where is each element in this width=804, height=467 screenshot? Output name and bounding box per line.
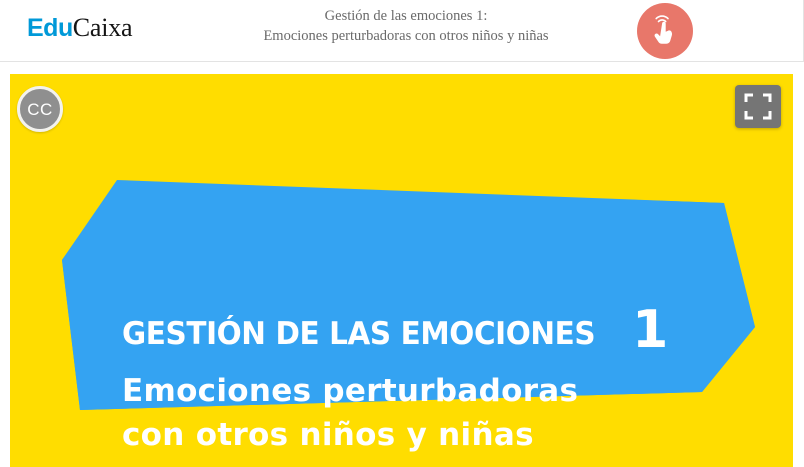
logo-text-edu: Edu [27, 14, 73, 42]
banner-text-block: GESTIÓN DE LAS EMOCIONES 1 Emociones per… [122, 301, 722, 457]
resource-type-badge: Recurso educativo Interactivo [637, 3, 693, 59]
page-header: EduCaixa Gestión de las emociones 1: Emo… [0, 0, 804, 62]
logo-text-caixa: Caixa [73, 13, 133, 42]
page-title: Gestión de las emociones 1: Emociones pe… [196, 6, 616, 46]
content-stage: CC GESTIÓN DE LAS EMOCIONES 1 [10, 74, 793, 467]
creative-commons-badge[interactable]: CC [17, 86, 63, 132]
banner-unit-number: 1 [632, 304, 668, 356]
fullscreen-button[interactable] [735, 85, 781, 128]
banner-headline-row: GESTIÓN DE LAS EMOCIONES 1 [122, 301, 722, 353]
banner-subheadline-line2: con otros niños y niñas [122, 413, 722, 457]
page-title-line1: Gestión de las emociones 1: [196, 6, 616, 26]
educaixa-logo[interactable]: EduCaixa [27, 15, 132, 41]
banner-headline: GESTIÓN DE LAS EMOCIONES [122, 319, 595, 350]
cc-badge-label: CC [27, 101, 53, 118]
fullscreen-icon [744, 93, 772, 120]
slide-page: EduCaixa Gestión de las emociones 1: Emo… [0, 0, 804, 467]
touch-hand-icon [637, 3, 693, 59]
banner-subheadline-line1: Emociones perturbadoras [122, 369, 722, 413]
banner-subheadline: Emociones perturbadoras con otros niños … [122, 369, 722, 457]
page-title-line2: Emociones perturbadoras con otros niños … [196, 26, 616, 46]
